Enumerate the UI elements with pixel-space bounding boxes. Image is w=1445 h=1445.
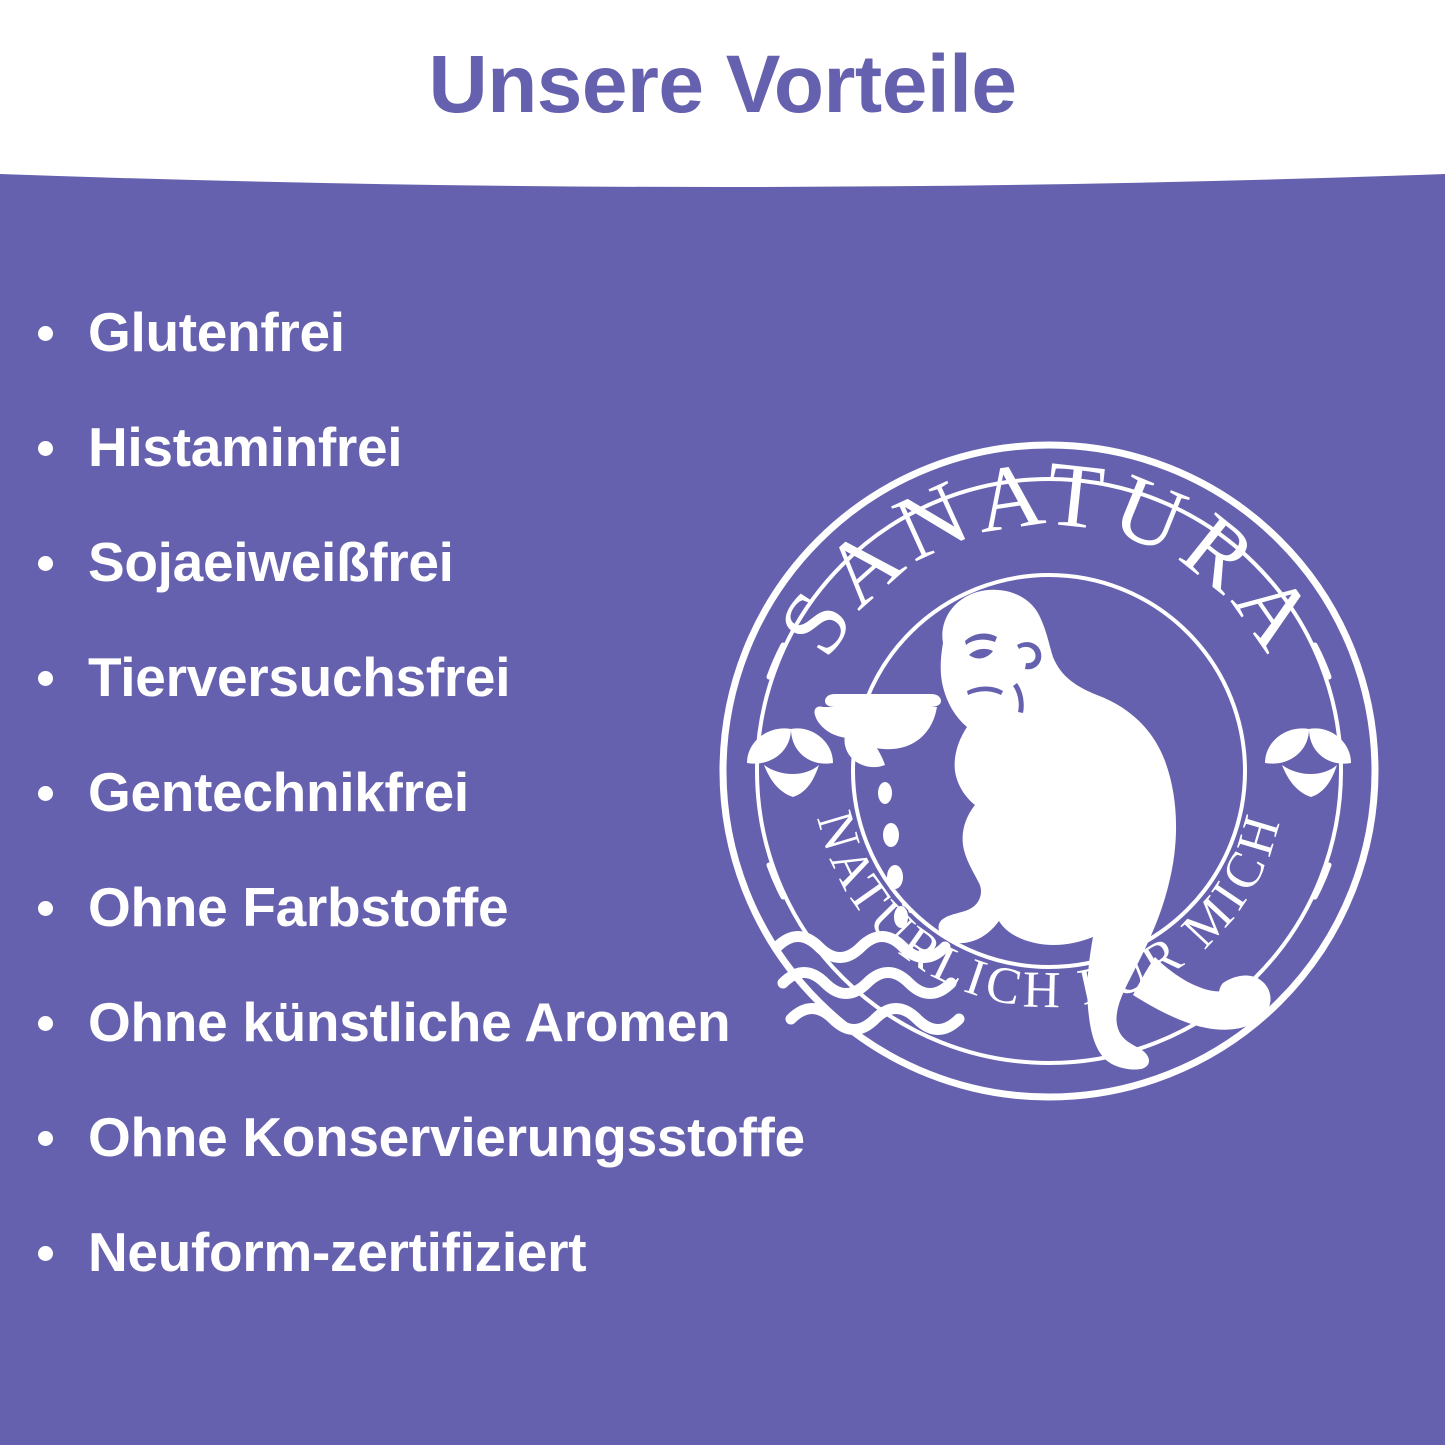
list-item: Neuform-zertifiziert: [38, 1208, 738, 1298]
benefits-list: Glutenfrei Histaminfrei Sojaeiweißfrei T…: [38, 288, 738, 1323]
bullet-icon: [38, 786, 53, 801]
bullet-icon: [38, 1016, 53, 1031]
list-item: Tierversuchsfrei: [38, 633, 738, 723]
bullet-icon: [38, 901, 53, 916]
brand-name-text: SANATURA: [758, 442, 1339, 673]
water-drop: [894, 906, 908, 928]
benefit-label: Histaminfrei: [88, 419, 402, 477]
benefit-label: Ohne künstliche Aromen: [88, 994, 730, 1052]
benefit-label: Glutenfrei: [88, 304, 345, 362]
leaf-icon-right: [1265, 728, 1351, 797]
benefit-label: Neuform-zertifiziert: [88, 1224, 586, 1282]
benefit-label: Ohne Farbstoffe: [88, 879, 508, 937]
water-drop: [878, 782, 892, 804]
list-item: Histaminfrei: [38, 403, 738, 493]
brand-name-arc: SANATURA: [758, 442, 1339, 673]
list-item: Ohne künstliche Aromen: [38, 978, 738, 1068]
sanatura-seal-icon: SANATURA NATÜRLICH FÜR MICH: [717, 439, 1381, 1103]
bullet-icon: [38, 441, 53, 456]
benefit-label: Tierversuchsfrei: [88, 649, 510, 707]
bullet-icon: [38, 1131, 53, 1146]
bullet-icon: [38, 1246, 53, 1261]
list-item: Ohne Farbstoffe: [38, 863, 738, 953]
benefit-label: Sojaeiweißfrei: [88, 534, 454, 592]
list-item: Ohne Konservierungsstoffe: [38, 1093, 738, 1183]
list-item: Glutenfrei: [38, 288, 738, 378]
list-item: Sojaeiweißfrei: [38, 518, 738, 608]
water-drop: [883, 823, 899, 847]
list-item: Gentechnikfrei: [38, 748, 738, 838]
page-title: Unsere Vorteile: [0, 44, 1445, 126]
benefit-label: Gentechnikfrei: [88, 764, 469, 822]
bullet-icon: [38, 671, 53, 686]
benefits-graphic: Unsere Vorteile Glutenfrei Histaminfrei …: [0, 0, 1445, 1445]
leaf-icon-left: [747, 728, 833, 797]
benefit-label: Ohne Konservierungsstoffe: [88, 1109, 805, 1167]
water-drop: [887, 865, 903, 889]
bullet-icon: [38, 556, 53, 571]
sanatura-logo: SANATURA NATÜRLICH FÜR MICH: [717, 439, 1381, 1103]
bullet-icon: [38, 326, 53, 341]
